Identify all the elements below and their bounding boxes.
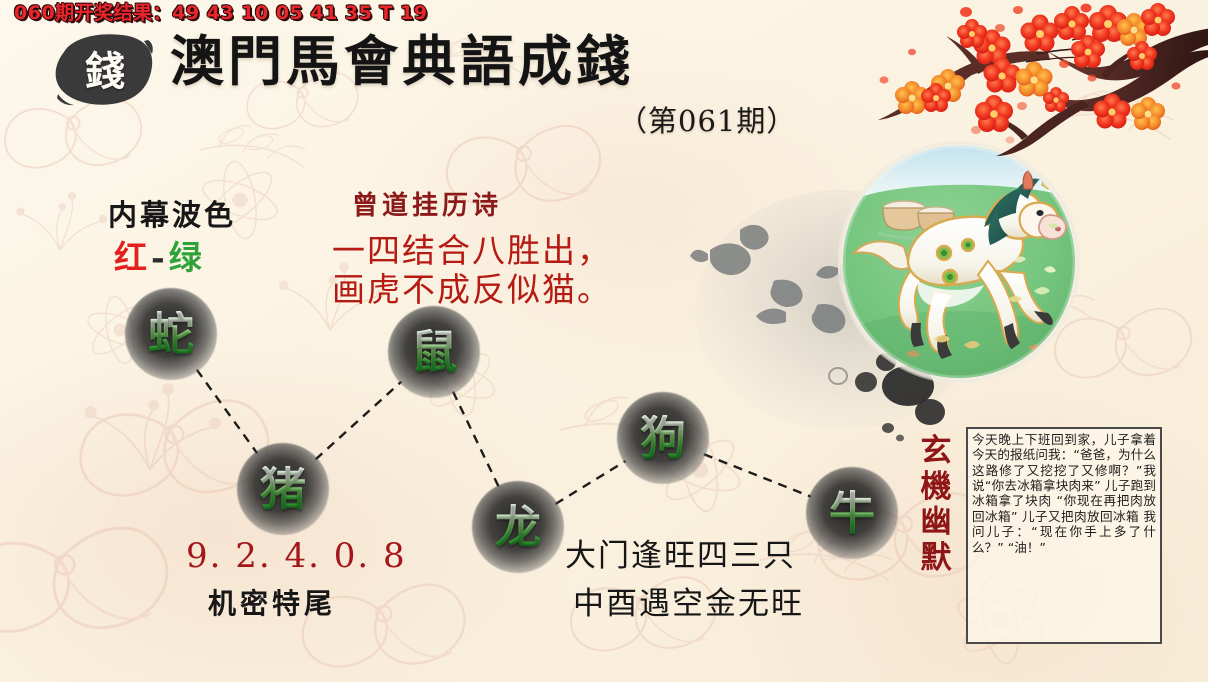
zodiac-label: 狗 [640, 415, 686, 461]
bose-color-red: 红 [114, 238, 149, 277]
zodiac-label: 猪 [260, 466, 306, 512]
vertical-label-char-2: 幽 [915, 505, 957, 541]
connector-line [197, 370, 257, 454]
vertical-label-char-1: 機 [915, 470, 957, 506]
connector-line [453, 392, 499, 488]
bose-color-green: 绿 [169, 238, 204, 277]
zodiac-node-5[interactable]: 牛 [806, 467, 898, 559]
poem-heading: 曾道挂历诗 [352, 185, 502, 222]
connector-line [704, 454, 811, 497]
zodiac-label: 鼠 [411, 329, 457, 375]
bose-title: 内幕波色 [108, 192, 236, 234]
lottery-poster: 060期开奖结果：49 43 10 05 41 35 T 19 錢 澳門馬會典語… [0, 0, 1208, 682]
brand-seal: 錢 [52, 32, 156, 106]
zodiac-node-3[interactable]: 狗 [617, 392, 709, 484]
vertical-label-char-0: 玄 [915, 434, 957, 470]
zodiac-label: 牛 [829, 490, 875, 536]
secret-tail-label: 机密特尾 [208, 582, 336, 622]
poem-line-2: 画虎不成反似猫。 [332, 263, 612, 311]
zodiac-node-1[interactable]: 鼠 [388, 306, 480, 398]
zodiac-label: 龙 [495, 504, 541, 550]
connector-line [555, 461, 625, 504]
zodiac-node-2[interactable]: 猪 [237, 443, 329, 535]
issue-number: （第061期） [618, 98, 796, 140]
seal-character: 錢 [52, 32, 156, 106]
zodiac-node-4[interactable]: 龙 [472, 481, 564, 573]
mystery-humor-vertical-label: 玄機幽默 [915, 434, 957, 577]
couplet-line-1: 大门逢旺四三只 [565, 530, 796, 575]
bose-color-separator: - [149, 238, 169, 277]
draw-result-text: 060期开奖结果：49 43 10 05 41 35 T 19 [0, 0, 428, 25]
page-title: 澳門馬會典語成錢 [170, 34, 634, 88]
running-horse-medallion [838, 141, 1080, 383]
couplet-line-2: 中酉遇空金无旺 [573, 578, 804, 623]
plum-blossom-branch [876, 0, 1208, 162]
joke-panel: 今天晚上下班回到家，儿子拿着今天的报纸问我：“爸爸，为什么这路修了又挖挖了又修啊… [966, 427, 1162, 644]
zodiac-node-0[interactable]: 蛇 [125, 288, 217, 380]
zodiac-label: 蛇 [148, 311, 194, 357]
bose-colors: 红-绿 [114, 231, 204, 279]
joke-text: 今天晚上下班回到家，儿子拿着今天的报纸问我：“爸爸，为什么这路修了又挖挖了又修啊… [972, 432, 1156, 555]
draw-result-bar: 060期开奖结果：49 43 10 05 41 35 T 19 [0, 0, 1208, 24]
vertical-label-char-3: 默 [915, 541, 957, 577]
secret-tail-numbers: 9. 2. 4. 0. 8 [186, 536, 407, 576]
